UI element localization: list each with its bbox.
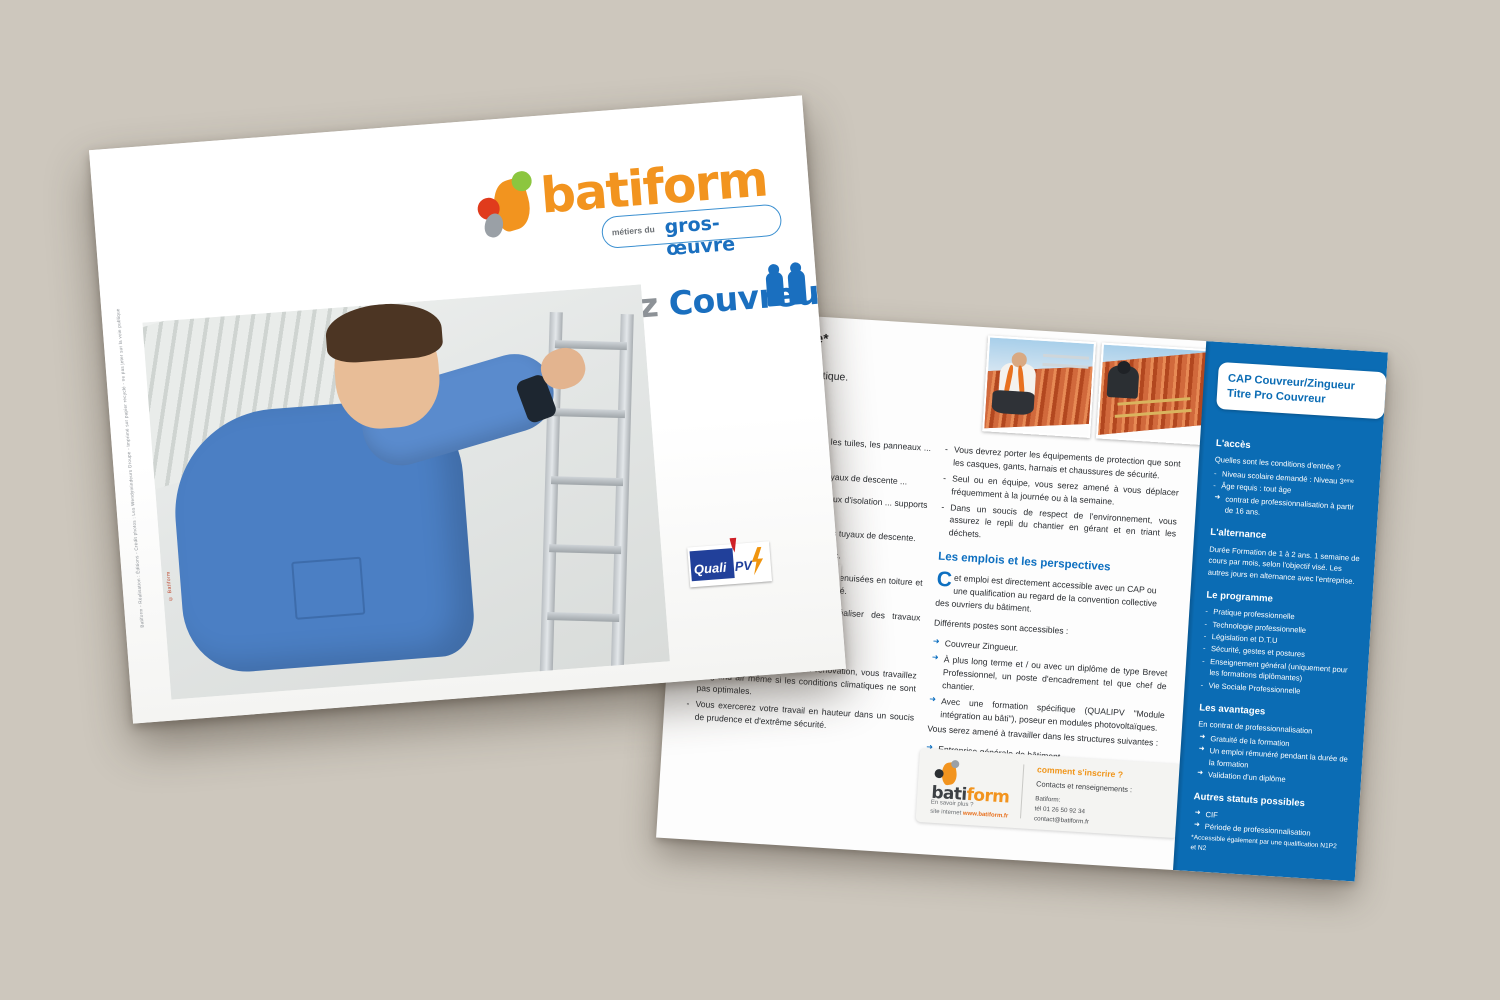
photo-roofer-placing-tiles — [982, 335, 1096, 438]
tagline-small: métiers du — [611, 224, 655, 237]
qualipv-badge-cover: Quali PV — [687, 541, 772, 587]
footer-site-prefix: site internet — [930, 808, 963, 816]
panel-title: CAP Couvreur/Zingueur Titre Pro Couvreur — [1216, 362, 1387, 420]
photo-overall-pocket — [291, 557, 365, 620]
jobs-intro: Cet emploi est directement accessible av… — [935, 571, 1173, 624]
footer-cta-sub: Contacts et renseignements : — [1036, 779, 1168, 796]
ladder-rung — [551, 476, 623, 486]
panel-intro: Durée Formation de 1 à 2 ans. 1 semaine … — [1207, 543, 1361, 587]
safety-list: Vous devrez porter les équipements de pr… — [939, 443, 1181, 554]
blue-info-panel: CAP Couvreur/Zingueur Titre Pro Couvreur… — [1173, 341, 1388, 881]
drop-cap: C — [936, 571, 954, 589]
batiform-logo-small: batiform — [931, 759, 1017, 802]
batiform-logo-mark — [475, 170, 540, 236]
qualipv-pv-text: PV — [734, 558, 752, 574]
worker-legs — [992, 389, 1035, 415]
cover-photo-worker-on-ladder: © Batiform — [142, 284, 670, 699]
panel-list-acces: Niveau scolaire demandé : Niveau 3ᵉᵐᵉ Âg… — [1211, 468, 1366, 525]
qualipv-quali-text: Quali — [693, 560, 727, 577]
footer-site-url[interactable]: www.batiform.fr — [963, 810, 1009, 819]
person-body-icon — [787, 270, 807, 305]
footer-more-info: En savoir plus ? site internet www.batif… — [930, 799, 1009, 821]
worker-head — [1117, 360, 1131, 374]
spread-footer: batiform En savoir plus ? site internet … — [916, 748, 1182, 838]
brochure-cover: batiform métiers du gros-œuvre → Devenez… — [89, 95, 846, 723]
logo-dot-green-icon — [511, 170, 532, 191]
tagline-big: gros-œuvre — [664, 207, 783, 260]
ladder-rung — [553, 408, 625, 418]
panel-list-programme: Pratique professionnelle Technologie pro… — [1200, 606, 1357, 700]
panel-list-avantages: Gratuité de la formation Un emploi rémun… — [1195, 732, 1350, 789]
jobs-list: Couvreur Zingueur. À plus long terme et … — [928, 637, 1169, 735]
person-body-icon — [765, 271, 785, 306]
batiform-logo: batiform métiers du gros-œuvre — [475, 146, 781, 261]
ladder-rung — [547, 612, 619, 622]
logo-dot-grey — [951, 760, 959, 768]
footer-contact-block: Batiform: tél 01 26 50 92 34 contact@bat… — [1034, 794, 1168, 831]
footer-divider — [1020, 764, 1024, 818]
two-people-icon — [765, 261, 816, 311]
jobs-intro-text: et emploi est directement accessible ave… — [935, 573, 1157, 614]
ladder-rung — [549, 544, 621, 554]
brochure-scene: eur en alternance* ... hors d'eau de ...… — [0, 0, 1500, 1000]
panel-sections: L'accès Quelles sont les conditions d'en… — [1191, 437, 1368, 842]
footer-cta: comment s'inscrire ? Contacts et renseig… — [1034, 764, 1169, 831]
photo-roof-tiles-closeup — [1096, 343, 1210, 446]
